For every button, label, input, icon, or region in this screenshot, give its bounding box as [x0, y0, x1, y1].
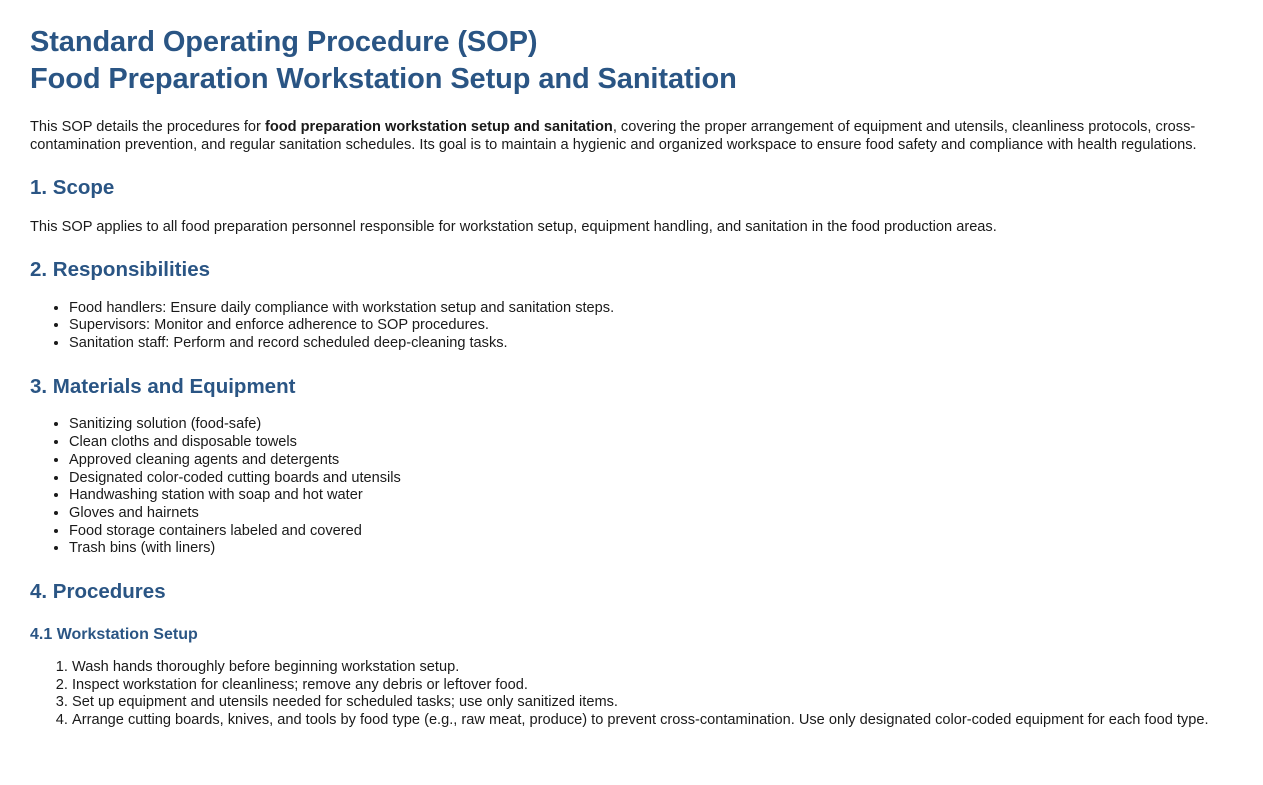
list-item: Approved cleaning agents and detergents [69, 452, 1233, 470]
section-heading-procedures: 4. Procedures [30, 580, 1233, 605]
materials-list: Sanitizing solution (food-safe) Clean cl… [30, 416, 1233, 558]
list-item: Set up equipment and utensils needed for… [72, 694, 1233, 712]
page-title-line-2: Food Preparation Workstation Setup and S… [30, 61, 1233, 98]
list-item: Gloves and hairnets [69, 505, 1233, 523]
list-item: Handwashing station with soap and hot wa… [69, 487, 1233, 505]
page-title-line-1: Standard Operating Procedure (SOP) [30, 24, 1233, 61]
list-item: Wash hands thoroughly before beginning w… [72, 659, 1233, 677]
list-item: Clean cloths and disposable towels [69, 434, 1233, 452]
workstation-setup-steps: Wash hands thoroughly before beginning w… [30, 659, 1233, 730]
subsection-heading-workstation-setup: 4.1 Workstation Setup [30, 625, 1233, 644]
list-item: Designated color-coded cutting boards an… [69, 470, 1233, 488]
page-title: Standard Operating Procedure (SOP) Food … [30, 24, 1233, 98]
list-item: Supervisors: Monitor and enforce adheren… [69, 317, 1233, 335]
list-item: Food handlers: Ensure daily compliance w… [69, 300, 1233, 318]
list-item: Trash bins (with liners) [69, 540, 1233, 558]
document-page: Standard Operating Procedure (SOP) Food … [0, 0, 1263, 730]
list-item: Food storage containers labeled and cove… [69, 523, 1233, 541]
scope-paragraph: This SOP applies to all food preparation… [30, 218, 1210, 236]
list-item: Inspect workstation for cleanliness; rem… [72, 677, 1233, 695]
responsibilities-list: Food handlers: Ensure daily compliance w… [30, 300, 1233, 353]
intro-paragraph: This SOP details the procedures for food… [30, 118, 1210, 154]
list-item: Sanitizing solution (food-safe) [69, 416, 1233, 434]
section-heading-scope: 1. Scope [30, 176, 1233, 201]
intro-text-before: This SOP details the procedures for [30, 119, 265, 135]
list-item: Arrange cutting boards, knives, and tool… [72, 712, 1233, 730]
section-heading-responsibilities: 2. Responsibilities [30, 258, 1233, 283]
intro-bold-phrase: food preparation workstation setup and s… [265, 119, 613, 135]
list-item: Sanitation staff: Perform and record sch… [69, 335, 1233, 353]
section-heading-materials: 3. Materials and Equipment [30, 375, 1233, 400]
